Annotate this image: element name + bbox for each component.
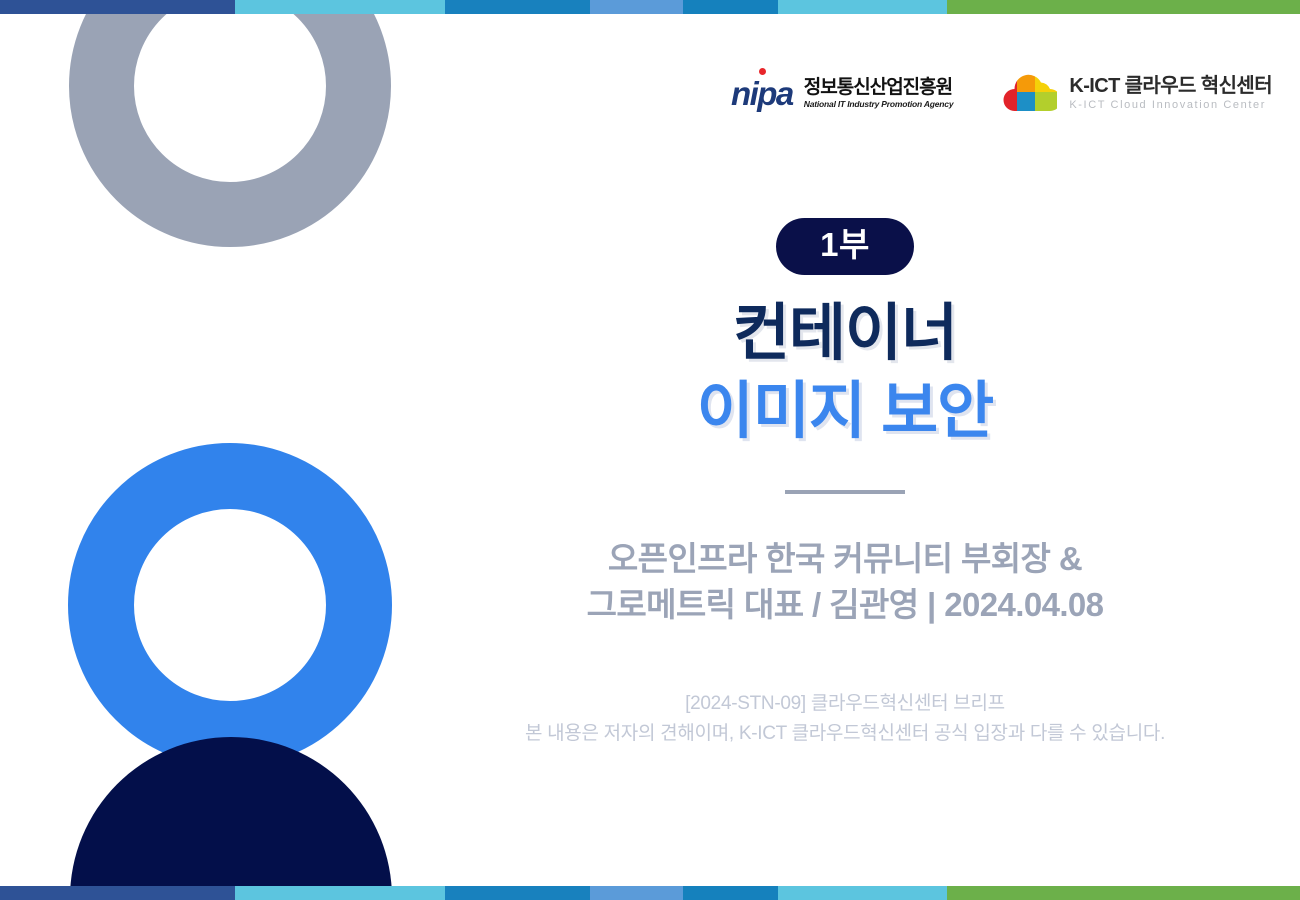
- title-line-1: 컨테이너: [697, 299, 993, 368]
- top-color-bar: [0, 0, 1300, 14]
- footer-line-1: [2024-STN-09] 클라우드혁신센터 브리프: [525, 689, 1165, 718]
- kict-name-block: K-ICT 클라우드 혁신센터 K-ICT Cloud Innovation C…: [1069, 75, 1272, 111]
- nipa-red-dot-icon: [759, 68, 766, 75]
- color-bar-segment-4: [590, 886, 683, 900]
- part-badge: 1부: [776, 218, 914, 275]
- title-divider: [785, 490, 905, 494]
- nipa-wordmark: nipa: [731, 77, 793, 110]
- bottom-color-bar: [0, 886, 1300, 900]
- logo-row: nipa 정보통신산업진흥원 National IT Industry Prom…: [731, 70, 1272, 117]
- footer-line-2: 본 내용은 저자의 견해이며, K-ICT 클라우드혁신센터 공식 입장과 다를…: [525, 719, 1165, 748]
- subtitle-line-2: 그로메트릭 대표 / 김관영 | 2024.04.08: [587, 582, 1104, 628]
- navy-disc-decoration: [70, 737, 392, 900]
- slide-content: 1부 컨테이너 이미지 보안 오픈인프라 한국 커뮤니티 부회장 & 그로메트릭…: [430, 0, 1260, 900]
- color-bar-segment-6: [778, 886, 947, 900]
- gray-ring-decoration: [69, 0, 391, 247]
- color-bar-segment-1: [0, 0, 235, 14]
- color-bar-segment-5: [683, 886, 778, 900]
- slide-root: nipa 정보통신산업진흥원 National IT Industry Prom…: [0, 0, 1300, 900]
- nipa-korean-name: 정보통신산업진흥원: [804, 78, 954, 98]
- color-bar-segment-1: [0, 886, 235, 900]
- color-bar-segment-5: [683, 0, 778, 14]
- disclaimer-footer: [2024-STN-09] 클라우드혁신센터 브리프 본 내용은 저자의 견해이…: [525, 689, 1165, 748]
- cloud-icon: [1001, 70, 1057, 117]
- color-bar-segment-2: [235, 886, 445, 900]
- nipa-logo: nipa 정보통신산업진흥원 National IT Industry Prom…: [731, 77, 953, 110]
- kict-logo: K-ICT 클라우드 혁신센터 K-ICT Cloud Innovation C…: [1001, 70, 1272, 117]
- kict-korean-name: K-ICT 클라우드 혁신센터: [1069, 75, 1272, 97]
- page-title: 컨테이너 이미지 보안: [697, 299, 993, 446]
- presenter-subtitle: 오픈인프라 한국 커뮤니티 부회장 & 그로메트릭 대표 / 김관영 | 202…: [587, 536, 1104, 627]
- color-bar-segment-2: [235, 0, 445, 14]
- nipa-name-block: 정보통신산업진흥원 National IT Industry Promotion…: [804, 78, 954, 109]
- kict-english-name: K-ICT Cloud Innovation Center: [1069, 99, 1272, 111]
- color-bar-segment-3: [445, 0, 590, 14]
- title-line-2: 이미지 보안: [697, 377, 993, 446]
- color-bar-segment-7: [947, 0, 1300, 14]
- subtitle-line-1: 오픈인프라 한국 커뮤니티 부회장 &: [587, 536, 1104, 582]
- nipa-english-name: National IT Industry Promotion Agency: [804, 100, 954, 109]
- color-bar-segment-7: [947, 886, 1300, 900]
- blue-ring-decoration: [68, 443, 392, 767]
- color-bar-segment-6: [778, 0, 947, 14]
- color-bar-segment-3: [445, 886, 590, 900]
- color-bar-segment-4: [590, 0, 683, 14]
